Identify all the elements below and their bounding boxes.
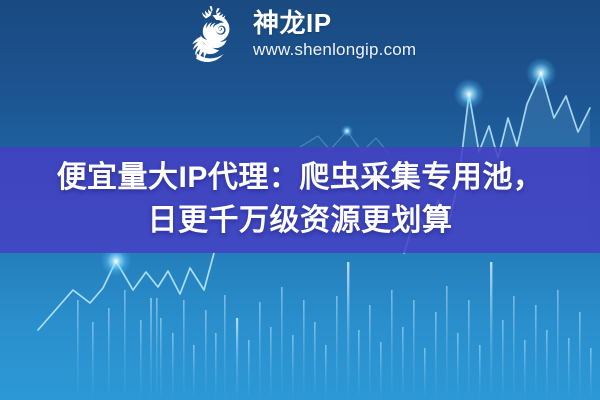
headline-block: 便宜量大IP代理：爬虫采集专用池， 日更千万级资源更划算 xyxy=(0,147,600,253)
brand-name: 神龙IP xyxy=(253,10,416,36)
headline-line-2: 日更千万级资源更划算 xyxy=(148,200,453,243)
decor-line-left xyxy=(38,253,214,330)
headline-line-1: 便宜量大IP代理：爬虫采集专用池， xyxy=(57,157,544,200)
brand-logo: 神龙IP www.shenlongip.com xyxy=(183,3,416,65)
brand-url: www.shenlongip.com xyxy=(253,41,416,58)
promo-banner: 神龙IP www.shenlongip.com 便宜量大IP代理：爬虫采集专用池… xyxy=(0,0,600,400)
dragon-head-icon xyxy=(183,3,245,65)
brand-text-block: 神龙IP www.shenlongip.com xyxy=(253,10,416,58)
decor-bars-left xyxy=(77,290,158,400)
decor-bars-main xyxy=(150,262,592,400)
